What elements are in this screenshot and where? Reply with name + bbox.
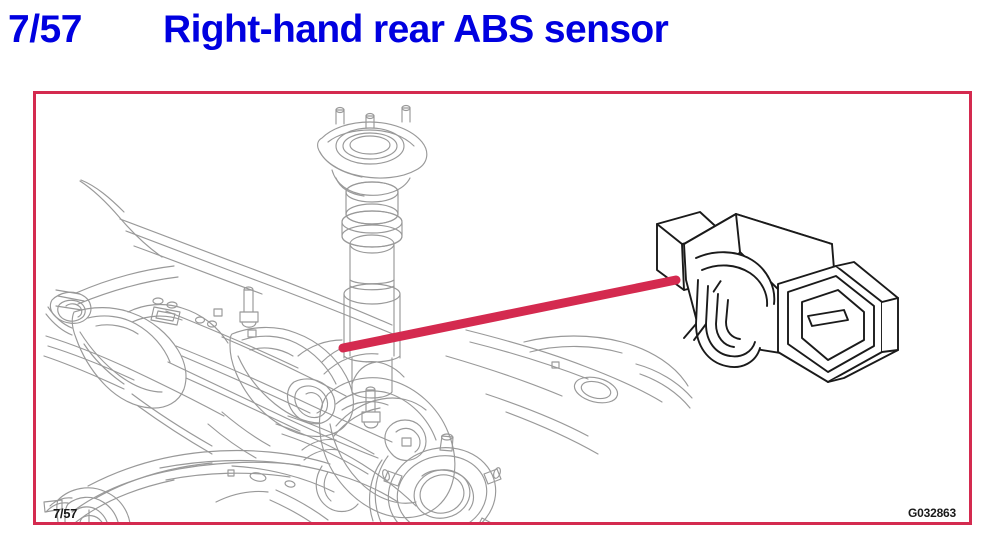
figure-reference-code: G032863 xyxy=(908,506,956,520)
header-page-number: 7/57 xyxy=(8,8,82,52)
abs-sensor-connector xyxy=(657,212,898,382)
page-header: 7/57 Right-hand rear ABS sensor xyxy=(0,0,999,78)
pointer-leader-line xyxy=(343,280,676,348)
figure-panel: 7/57 G032863 xyxy=(33,91,972,525)
page-title: Right-hand rear ABS sensor xyxy=(163,8,668,52)
figure-page-label: 7/57 xyxy=(53,506,77,521)
rear-suspension-line-art xyxy=(44,106,692,523)
suspension-assembly-illustration xyxy=(36,94,969,522)
